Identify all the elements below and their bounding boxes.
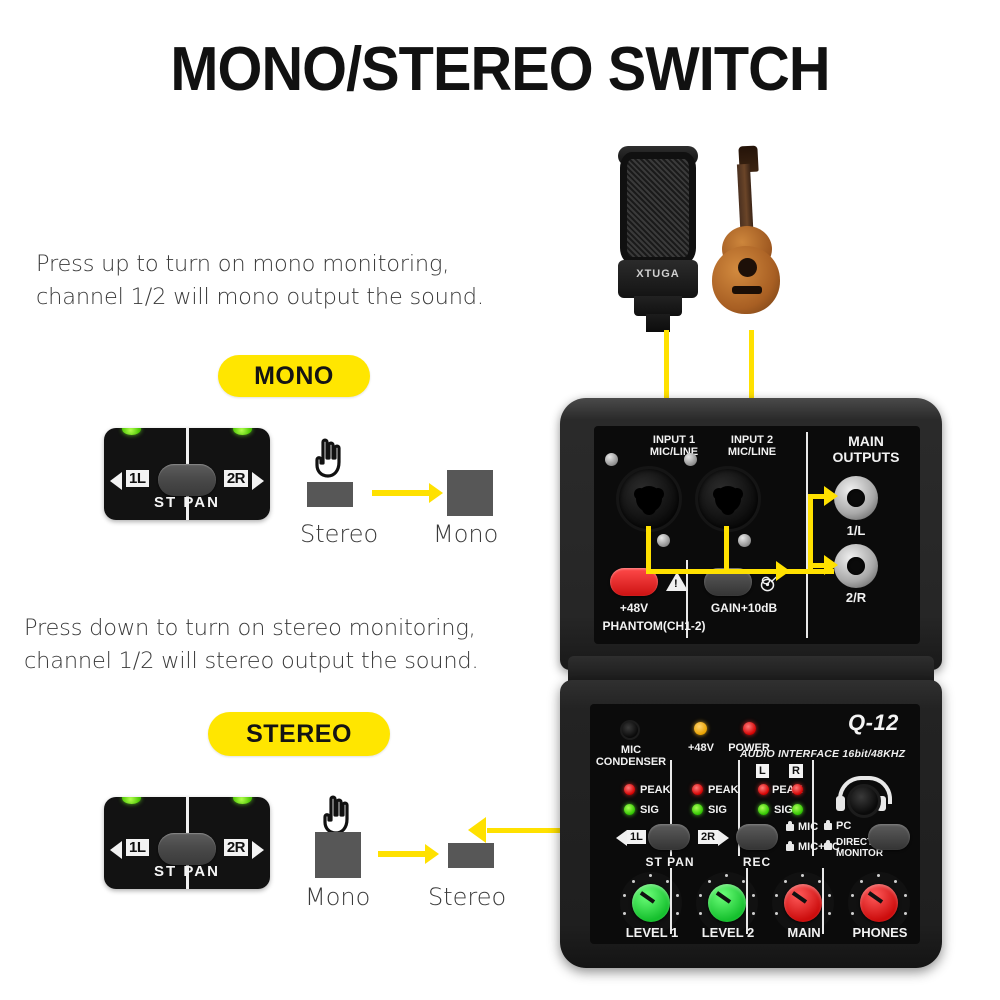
sig-led-ch2-icon — [692, 804, 703, 815]
phantom-label: +48V — [602, 602, 666, 615]
output1-label: 1/L — [824, 524, 888, 539]
arrow-head-icon — [425, 844, 439, 864]
arrow-left-icon — [110, 472, 122, 490]
mixer-front-shell: Q-12 AUDIO INTERFACE 16bit/48KHZ MIC CON… — [560, 680, 942, 968]
front-panel-face: Q-12 AUDIO INTERFACE 16bit/48KHZ MIC CON… — [590, 704, 920, 944]
screw-icon — [657, 534, 670, 547]
gain-label: GAIN+10dB — [694, 602, 794, 615]
badge-stereo: STEREO — [208, 712, 390, 756]
infographic-canvas: MONO/STEREO SWITCH Press up to turn on m… — [0, 0, 1000, 1000]
condenser-microphone: XTUGA — [612, 140, 704, 325]
callout-arrow-head-left-icon — [468, 817, 486, 843]
mic-condenser-label: MIC CONDENSER — [592, 744, 670, 769]
page-title: MONO/STEREO SWITCH — [35, 34, 965, 105]
switch-state-stereo-down — [448, 843, 494, 868]
pan-chip-left: 1L — [126, 470, 149, 487]
transition-arrow — [372, 490, 430, 496]
mono-transition-diagram: Stereo Mono — [300, 438, 510, 543]
stereo-transition-diagram: Mono Stereo — [300, 795, 520, 905]
monitor-pc-icon — [824, 823, 832, 830]
stpan-panel-mono: 1L 2R ST PAN — [104, 428, 270, 520]
peak-led-main-r-icon — [792, 784, 803, 795]
switch-state-mono-up — [315, 832, 361, 878]
rec-option-micpc: MIC+PC — [798, 841, 840, 853]
instruction-stereo: Press down to turn on stereo monitoring,… — [24, 612, 564, 678]
guitar-soundhole — [738, 258, 757, 277]
led-green-left-icon — [122, 797, 141, 804]
rec-micpc-icon — [786, 844, 794, 851]
led-green-right-icon — [233, 797, 252, 804]
sig-label-ch2: SIG — [708, 804, 727, 816]
rear-panel-face: INPUT 1 MIC/LINE INPUT 2 MIC/LINE MAIN O… — [594, 426, 920, 644]
mic-grille — [620, 152, 696, 264]
peak-led-ch2-icon — [692, 784, 703, 795]
front-divider-5 — [746, 868, 748, 934]
peak-label-ch2: PEAK — [708, 784, 739, 796]
stpan-panel-stereo: 1L 2R ST PAN — [104, 797, 270, 889]
sig-led-ch1-icon — [624, 804, 635, 815]
monitor-option-pc: PC — [836, 820, 851, 832]
sig-led-main-l-icon — [758, 804, 769, 815]
mic-brand-label: XTUGA — [612, 268, 704, 280]
warning-triangle-icon — [666, 572, 688, 591]
knob-label-phones: PHONES — [832, 926, 928, 941]
pointing-hand-icon — [310, 438, 350, 480]
meter-chip-left: L — [756, 764, 769, 778]
power-led-label: POWER — [720, 742, 778, 754]
meter-chip-right: R — [789, 764, 803, 778]
label-from-mono: Mono — [305, 883, 370, 911]
st-pan-switch[interactable] — [158, 833, 216, 865]
rec-label: REC — [722, 856, 792, 869]
pointing-hand-icon — [318, 795, 358, 837]
main-output-jack-1[interactable] — [834, 476, 878, 520]
arrow-left-icon — [110, 841, 122, 859]
badge-mono: MONO — [218, 355, 370, 397]
peak-led-ch1-icon — [624, 784, 635, 795]
pan-chip-right: 2R — [224, 470, 248, 487]
instruction-mono: Press up to turn on mono monitoring, cha… — [36, 248, 556, 314]
main-output-jack-2[interactable] — [834, 544, 878, 588]
input-jack-1[interactable] — [616, 466, 682, 532]
phantom-sublabel: PHANTOM(CH1-2) — [596, 620, 712, 633]
route-arrow-head-icon — [776, 561, 790, 581]
front-pan-chip-left: 1L — [627, 830, 646, 844]
model-name: Q-12 — [848, 710, 899, 736]
output2-label: 2/R — [824, 591, 888, 606]
headphone-ear-left-icon — [836, 796, 845, 811]
route-arrow-out2-icon — [824, 555, 838, 575]
switch-state-mono-up — [447, 470, 493, 516]
peak-led-main-l-icon — [758, 784, 769, 795]
peak-label-ch1: PEAK — [640, 784, 671, 796]
sig-led-main-r-icon — [792, 804, 803, 815]
led-green-left-icon — [122, 428, 141, 435]
pan-arrow-left-icon — [616, 830, 627, 846]
stpan-caption: ST PAN — [104, 863, 270, 880]
rec-button[interactable] — [736, 824, 778, 850]
input2-label: INPUT 2 MIC/LINE — [704, 434, 800, 459]
rec-mic-icon — [786, 824, 794, 831]
route-arrow-out1-icon — [824, 486, 838, 506]
arrow-right-icon — [252, 472, 264, 490]
switch-state-stereo-down — [307, 482, 353, 507]
rec-option-mic: MIC — [798, 821, 818, 833]
route-to-outputs — [808, 494, 813, 574]
main-outputs-label: MAIN OUTPUTS — [818, 434, 914, 465]
screw-icon — [684, 453, 697, 466]
label-to-mono: Mono — [433, 520, 498, 548]
acoustic-guitar — [706, 140, 784, 320]
pan-chip-right: 2R — [224, 839, 248, 856]
power-led-icon — [743, 722, 756, 735]
front-divider-4 — [670, 868, 672, 934]
pan-arrow-right-icon — [718, 830, 729, 846]
label-from-stereo: Stereo — [300, 520, 378, 548]
transition-arrow — [378, 851, 426, 857]
headphone-jack[interactable] — [847, 784, 881, 818]
monitor-button[interactable] — [868, 824, 910, 850]
led-green-right-icon — [233, 428, 252, 435]
monitor-direct-icon — [824, 843, 832, 850]
mic-stem — [634, 296, 682, 316]
mic-condenser-jack[interactable] — [620, 720, 640, 740]
audio-interface-mixer: INPUT 1 MIC/LINE INPUT 2 MIC/LINE MAIN O… — [556, 398, 946, 968]
st-pan-switch[interactable] — [158, 464, 216, 496]
pan-chip-left: 1L — [126, 839, 149, 856]
label-to-stereo: Stereo — [428, 883, 506, 911]
guitar-bridge — [732, 286, 762, 294]
input-jack-2[interactable] — [695, 466, 761, 532]
st-pan-button[interactable] — [648, 824, 690, 850]
phantom-led-icon — [694, 722, 707, 735]
sig-label-main: SIG — [774, 804, 793, 816]
arrow-right-icon — [252, 841, 264, 859]
route-in1-down — [646, 526, 651, 574]
screw-icon — [605, 453, 618, 466]
screw-icon — [738, 534, 751, 547]
front-divider-6 — [822, 868, 824, 934]
stpan-caption: ST PAN — [104, 494, 270, 511]
mixer-rear-shell: INPUT 1 MIC/LINE INPUT 2 MIC/LINE MAIN O… — [560, 398, 942, 670]
arrow-head-icon — [429, 483, 443, 503]
guitar-lower-bout — [712, 246, 780, 314]
front-pan-chip-right: 2R — [698, 830, 718, 844]
route-in1-across — [646, 569, 728, 574]
sig-label-ch1: SIG — [640, 804, 659, 816]
route-in2-down — [724, 526, 729, 574]
